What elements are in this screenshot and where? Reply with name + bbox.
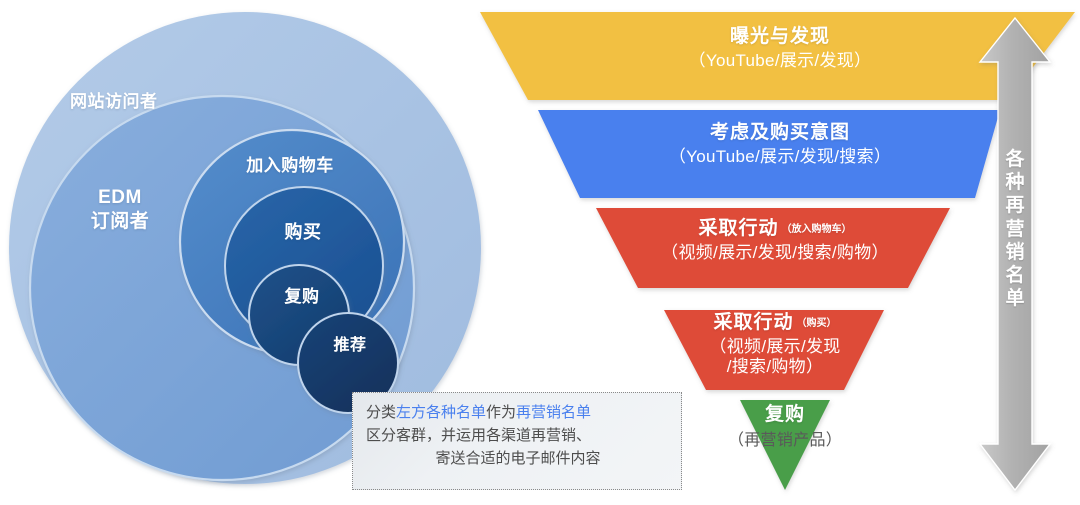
funnel-band-repurchase — [740, 400, 830, 490]
diagram-canvas: 网站访问者 EDM 订阅者 加入购物车 购买 复购 推荐 曝光与发现 （YouT… — [0, 0, 1080, 505]
note-box — [352, 392, 682, 490]
funnel-band-consideration — [538, 110, 1000, 198]
funnel-band-action-cart — [596, 208, 950, 288]
funnel-band-action-buy — [664, 310, 884, 390]
